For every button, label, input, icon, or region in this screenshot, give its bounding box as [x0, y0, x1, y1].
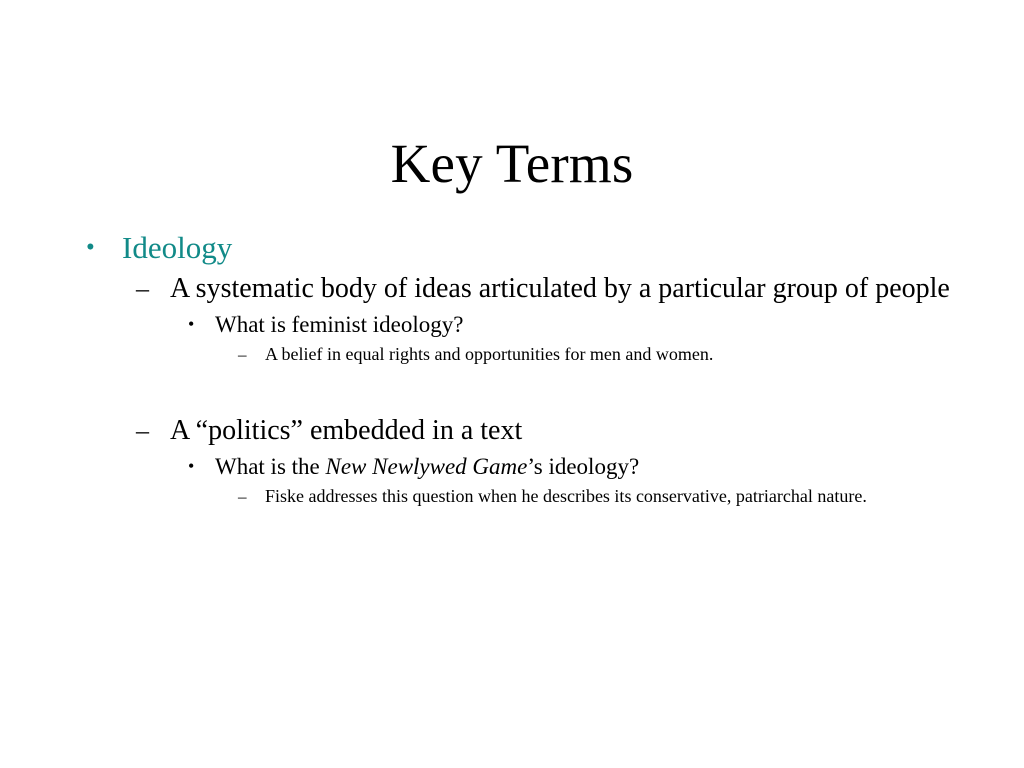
bullet-disc-icon: •: [188, 309, 194, 340]
outline-item-level3-feminist-ideology: • What is feminist ideology?: [80, 309, 960, 340]
outline-item-label: A belief in equal rights and opportuniti…: [265, 342, 960, 367]
bullet-dash-icon: –: [238, 342, 247, 367]
bullet-dash-icon: –: [136, 413, 149, 449]
bullet-dash-icon: –: [136, 271, 149, 307]
bullet-disc-icon: •: [86, 228, 95, 268]
outline-item-label: Fiske addresses this question when he de…: [265, 484, 960, 509]
outline-item-level1-ideology: • Ideology: [80, 228, 960, 268]
bullet-disc-icon: •: [188, 451, 194, 482]
slide: Key Terms • Ideology – A systematic body…: [0, 0, 1024, 768]
outline-item-level4-belief-equal-rights: – A belief in equal rights and opportuni…: [80, 342, 960, 367]
outline-item-level3-newlywed-game-ideology: • What is the New Newlywed Game’s ideolo…: [80, 451, 960, 482]
outline-text-after-italic: ’s ideology?: [527, 454, 639, 479]
outline-item-label: A systematic body of ideas articulated b…: [170, 271, 960, 307]
outline-item-level2-politics-embedded: – A “politics” embedded in a text: [80, 413, 960, 449]
outline-blank-line: [80, 369, 960, 413]
outline-item-level2-systematic-body: – A systematic body of ideas articulated…: [80, 271, 960, 307]
outline-text-italic-show-title: New Newlywed Game: [326, 454, 528, 479]
outline-item-level4-fiske-conservative-patriarchal: – Fiske addresses this question when he …: [80, 484, 960, 509]
outline-item-label: Ideology: [122, 228, 960, 268]
slide-body-outline: • Ideology – A systematic body of ideas …: [80, 228, 960, 511]
outline-text-before-italic: What is the: [215, 454, 326, 479]
bullet-dash-icon: –: [238, 484, 247, 509]
outline-item-label: What is the New Newlywed Game’s ideology…: [215, 451, 960, 482]
page-title: Key Terms: [0, 132, 1024, 196]
outline-item-label: What is feminist ideology?: [215, 309, 960, 340]
outline-item-label: A “politics” embedded in a text: [170, 413, 960, 449]
